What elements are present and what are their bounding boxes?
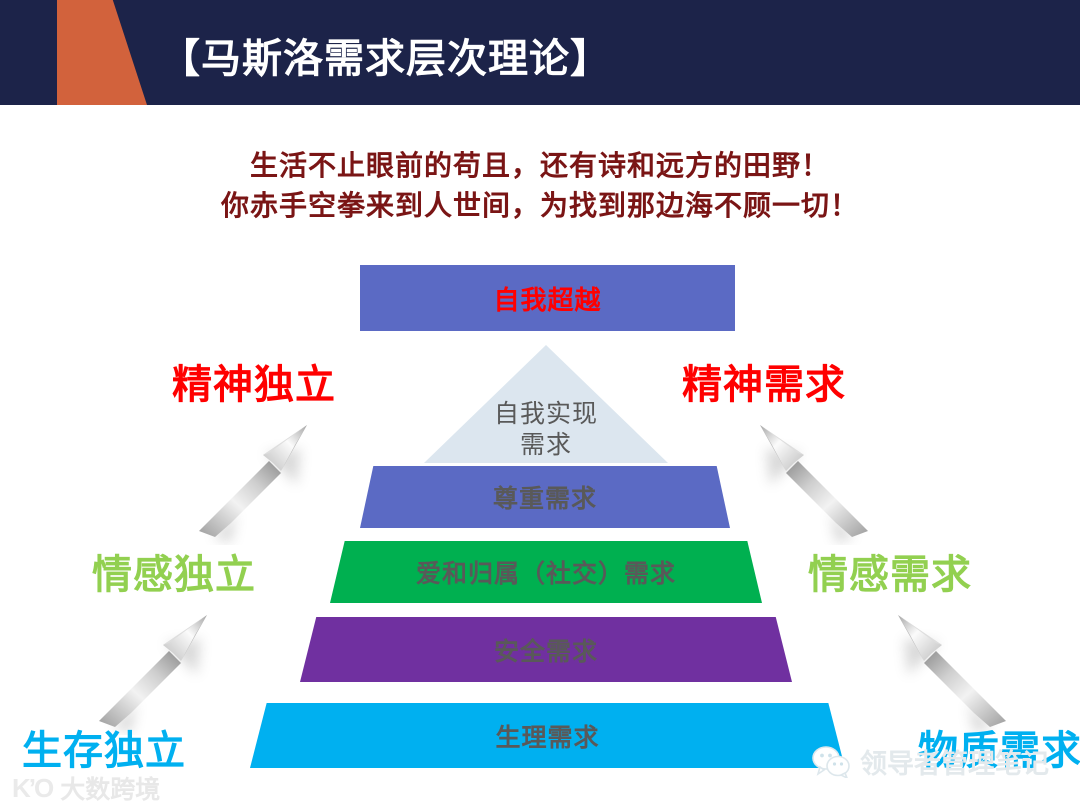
- label-survival-independence: 生存独立: [22, 718, 186, 776]
- pyramid-level-self-transcendence: 自我超越: [360, 265, 735, 331]
- arrow-up-right-icon: [185, 405, 325, 545]
- pyramid-level-physiological: 生理需求: [250, 703, 845, 768]
- watermark-dashukuajing: K’O 大数跨境: [12, 770, 160, 806]
- pyramid-level-love-belonging: 爱和归属（社交）需求: [330, 541, 762, 603]
- arrow-up-left-icon: [742, 405, 882, 545]
- watermark-text: 大数跨境: [60, 770, 160, 806]
- watermark-text: 领导者管理笔记: [860, 742, 1049, 781]
- pyramid-level-label: 尊重需求: [493, 479, 597, 515]
- pyramid-level-label-line-2: 需求: [494, 430, 598, 461]
- label-emotional-independence: 情感独立: [92, 542, 256, 600]
- arrow-up-right-icon: [85, 595, 225, 735]
- label-spiritual-independence: 精神独立: [172, 352, 336, 410]
- dashu-logo-icon: K’O: [12, 773, 52, 804]
- arrow-up-left-icon: [880, 595, 1020, 735]
- wechat-icon: [812, 746, 850, 778]
- pyramid-level-label: 爱和归属（社交）需求: [416, 554, 676, 590]
- pyramid-level-label: 安全需求: [494, 632, 598, 668]
- pyramid-level-label: 自我超越: [493, 280, 601, 317]
- pyramid-level-label: 生理需求: [495, 718, 599, 754]
- pyramid-level-label-line-1: 自我实现: [494, 399, 598, 430]
- label-spiritual-need: 精神需求: [682, 352, 846, 410]
- watermark-wechat-account: 领导者管理笔记: [812, 742, 1049, 781]
- label-emotional-need: 情感需求: [808, 542, 972, 600]
- pyramid-level-esteem: 尊重需求: [360, 466, 730, 528]
- pyramid-level-self-actualization: 自我实现 需求: [424, 345, 668, 463]
- pyramid-level-safety: 安全需求: [300, 617, 792, 682]
